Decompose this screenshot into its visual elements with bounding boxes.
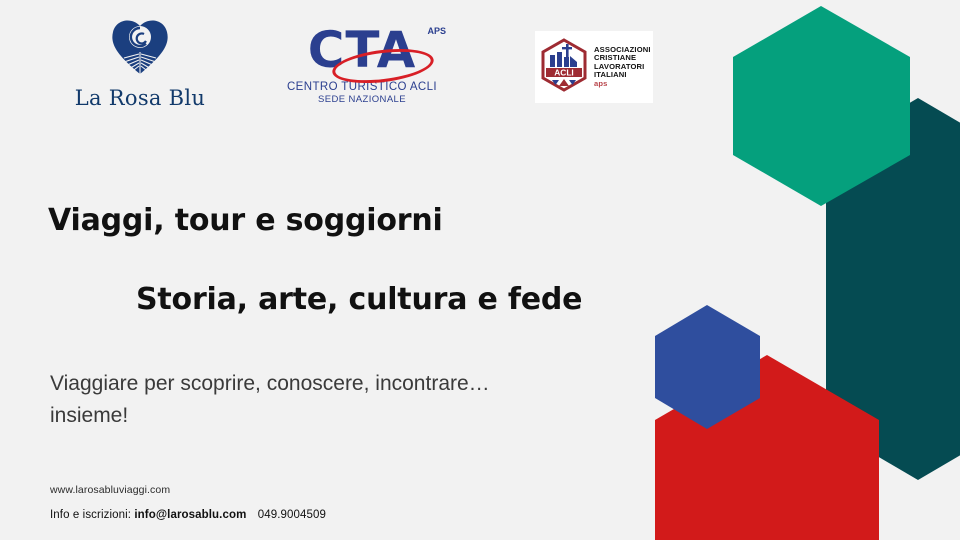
hexagon-teal-shape xyxy=(826,98,960,480)
logo-cta-mark: CTA APS xyxy=(272,22,452,80)
logo-acli-text: ASSOCIAZIONI CRISTIANE LAVORATORI ITALIA… xyxy=(594,46,651,89)
hexagon-red-shape xyxy=(655,355,879,540)
headline-secondary: Storia, arte, cultura e fede xyxy=(136,282,582,317)
logo-cta: CTA APS CENTRO TURISTICO ACLI SEDE NAZIO… xyxy=(272,22,452,105)
footer-email[interactable]: info@larosablu.com xyxy=(134,509,246,521)
svg-text:ACLI: ACLI xyxy=(554,67,574,77)
logo-la-rosa-blu-wordmark: La Rosa Blu xyxy=(50,86,230,110)
footer-contact-label: Info e iscrizioni: xyxy=(50,509,131,521)
footer-phone[interactable]: 049.9004509 xyxy=(258,509,326,521)
logo-cta-aps: APS xyxy=(427,26,446,36)
logo-strip: La Rosa Blu CTA APS CENTRO TURISTICO ACL… xyxy=(0,0,700,140)
footer-contact-line: Info e iscrizioni: info@larosablu.com 04… xyxy=(50,509,326,521)
hexagon-green-shape xyxy=(733,6,910,206)
presentation-slide: La Rosa Blu CTA APS CENTRO TURISTICO ACL… xyxy=(0,0,960,540)
headline-primary: Viaggi, tour e soggiorni xyxy=(48,203,443,238)
logo-cta-subtitle-secondary: SEDE NAZIONALE xyxy=(272,94,452,105)
footer-website-url[interactable]: www.larosabluviaggi.com xyxy=(50,484,170,496)
subheadline-line-2: insieme! xyxy=(50,400,590,432)
logo-acli-line-5: aps xyxy=(594,79,608,88)
logo-acli: ACLI ASSOCIAZIONI CRISTIANE LAVORATORI I… xyxy=(535,31,653,103)
logo-la-rosa-blu: La Rosa Blu xyxy=(50,18,230,110)
acli-hexagon-badge-icon: ACLI xyxy=(539,38,589,97)
subheadline-line-1: Viaggiare per scoprire, conoscere, incon… xyxy=(50,368,590,400)
subheadline: Viaggiare per scoprire, conoscere, incon… xyxy=(50,368,590,432)
rose-heart-icon xyxy=(50,18,230,80)
hexagon-blue-shape xyxy=(655,305,760,429)
